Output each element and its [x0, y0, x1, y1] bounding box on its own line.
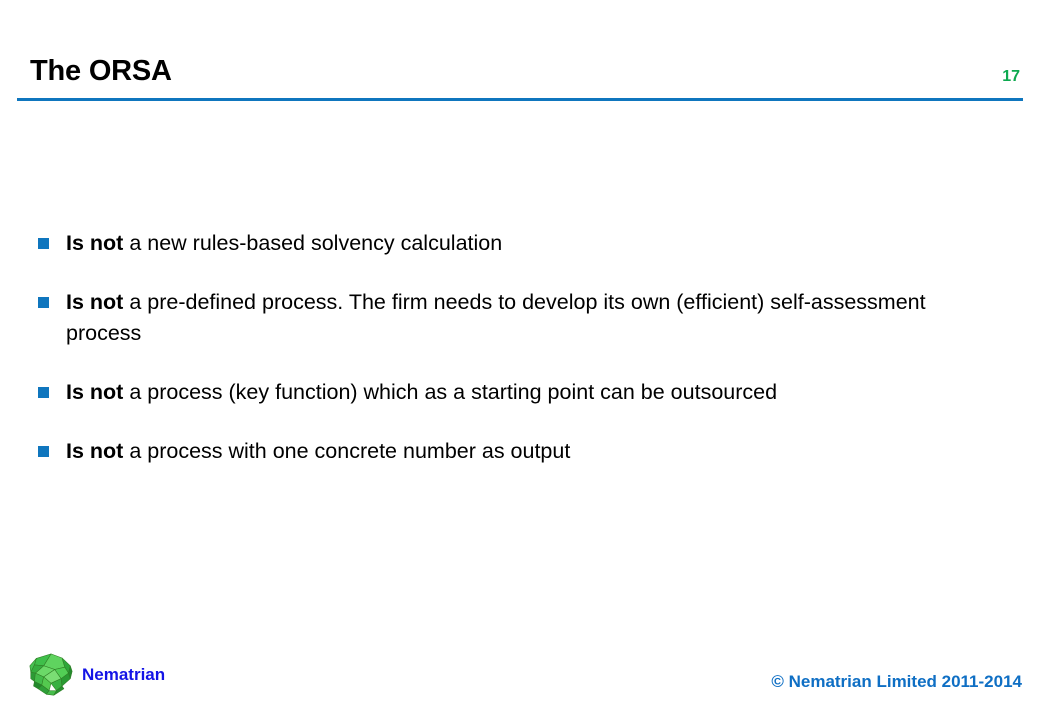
bullet-square-icon	[38, 446, 49, 457]
bullet-square-icon	[38, 297, 49, 308]
list-item-text: a pre-defined process. The firm needs to…	[66, 290, 926, 345]
page-number: 17	[1002, 68, 1020, 86]
title-divider-rule	[17, 98, 1023, 101]
list-item: Is not a process with one concrete numbe…	[0, 436, 1000, 467]
list-item-text: a process with one concrete number as ou…	[123, 439, 570, 463]
list-item-text: a new rules-based solvency calculation	[123, 231, 502, 255]
list-item-lead: Is not	[66, 380, 123, 404]
list-item: Is not a new rules-based solvency calcul…	[0, 228, 1000, 259]
page-title: The ORSA	[30, 54, 172, 88]
bullet-square-icon	[38, 238, 49, 249]
list-item-lead: Is not	[66, 290, 123, 314]
bullet-list: Is not a new rules-based solvency calcul…	[0, 228, 1000, 467]
slide-footer: Nematrian © Nematrian Limited 2011-2014	[0, 630, 1040, 720]
nematrian-polyhedron-icon	[28, 652, 74, 698]
list-item-text: a process (key function) which as a star…	[123, 380, 777, 404]
list-item-lead: Is not	[66, 439, 123, 463]
list-item: Is not a process (key function) which as…	[0, 377, 1000, 408]
copyright-notice: © Nematrian Limited 2011-2014	[771, 672, 1022, 692]
slide-header: The ORSA 17	[0, 0, 1040, 108]
brand-wordmark: Nematrian	[82, 665, 165, 685]
list-item-lead: Is not	[66, 231, 123, 255]
list-item: Is not a pre-defined process. The firm n…	[0, 287, 1000, 349]
brand-block: Nematrian	[28, 652, 165, 698]
bullet-square-icon	[38, 387, 49, 398]
